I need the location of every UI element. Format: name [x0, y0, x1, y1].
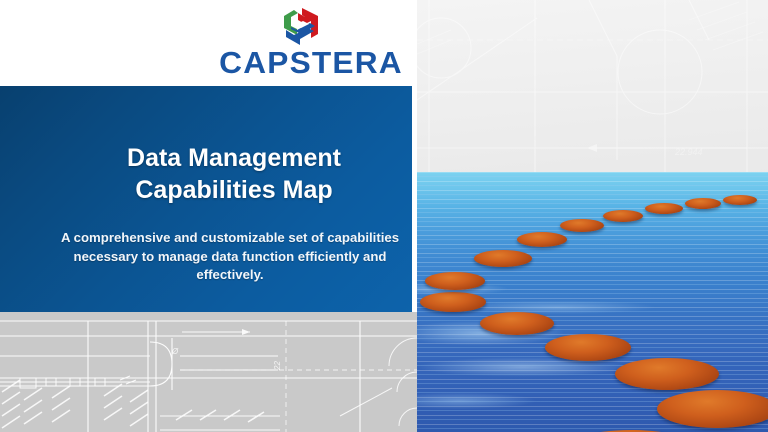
stone-1 — [420, 292, 486, 312]
stone-5 — [560, 219, 604, 232]
stone-9 — [723, 195, 757, 205]
stone-6 — [603, 210, 643, 222]
title-panel: Data Management Capabilities Map A compr… — [0, 86, 412, 312]
svg-text:22.944: 22.944 — [674, 147, 703, 157]
brand-wordmark: CAPSTERA — [204, 46, 418, 80]
stone-4 — [517, 232, 567, 247]
stepping-stones-photo: 22.944 — [417, 0, 768, 432]
brand-logo[interactable]: CAPSTERA — [206, 2, 416, 82]
page-subtitle: A comprehensive and customizable set of … — [58, 229, 402, 285]
stone-2 — [425, 272, 485, 290]
panel-edge-divider — [412, 86, 417, 312]
page-title-line-2: Capabilities Map — [66, 174, 402, 206]
page-title: Data Management Capabilities Map — [66, 142, 402, 206]
svg-text:Ø: Ø — [171, 347, 179, 356]
slide-canvas: 22.944 — [0, 0, 768, 432]
stone-10 — [480, 312, 554, 335]
stone-12 — [615, 358, 719, 390]
title-panel-content: Data Management Capabilities Map A compr… — [0, 86, 412, 312]
stone-13 — [657, 390, 768, 428]
stone-7 — [645, 203, 683, 214]
blueprint-pattern-left: Ø 22 — [0, 312, 417, 432]
stone-3 — [474, 250, 532, 267]
page-title-line-1: Data Management — [66, 142, 402, 174]
svg-text:22: 22 — [273, 361, 282, 371]
stone-11 — [545, 334, 631, 361]
stone-8 — [685, 198, 721, 209]
blueprint-drawing: Ø 22 — [0, 312, 417, 432]
